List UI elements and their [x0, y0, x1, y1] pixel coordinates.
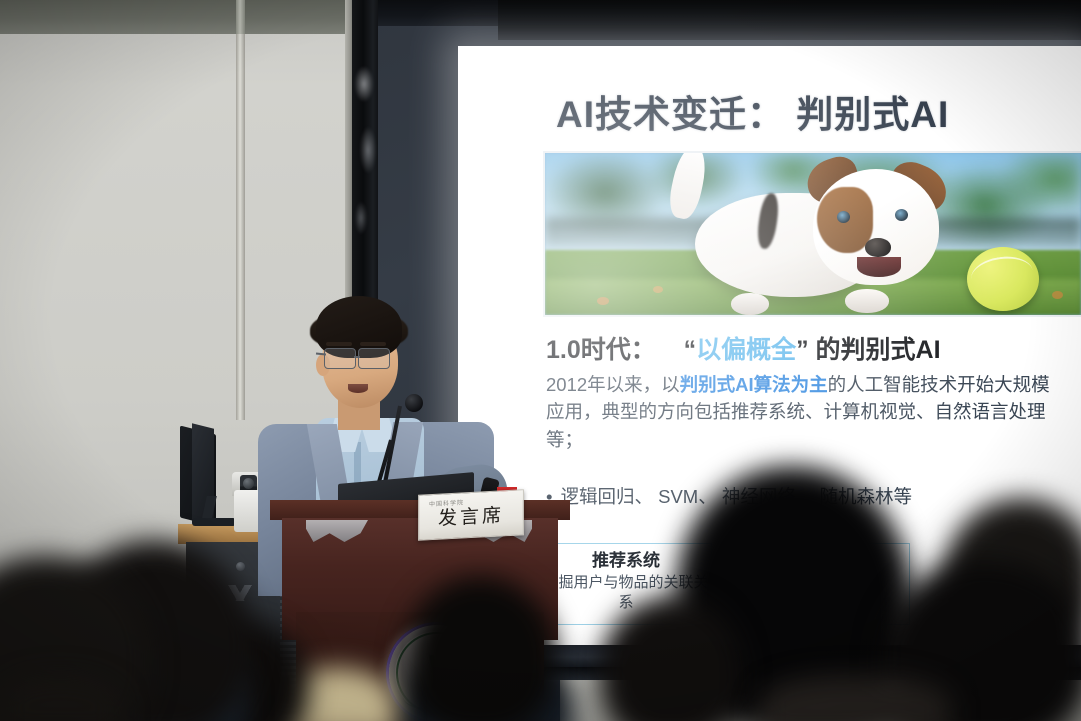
av-cabinet-knob[interactable]	[236, 562, 245, 571]
nameplate-subtext: 中国科学院	[429, 497, 464, 508]
microphone-head-icon	[243, 478, 254, 489]
microphone-capsule-icon	[405, 394, 423, 412]
pilaster-reflection	[354, 58, 376, 298]
speaker-mouth	[348, 384, 368, 393]
eyeglasses-temple	[316, 352, 326, 355]
eyeglasses-bridge	[354, 356, 360, 358]
photo-leaf	[597, 297, 609, 305]
audience-shoulders	[760, 676, 950, 721]
subtitle-quote-close: ”	[796, 336, 809, 364]
puppy-nose	[865, 238, 891, 257]
photo-leaf	[653, 286, 663, 293]
puppy-mouth	[857, 257, 901, 277]
slide-photo-puppy	[543, 151, 1081, 317]
puppy-paw-front	[845, 289, 889, 313]
eyeglasses-lens-right	[358, 348, 390, 369]
slide-body-text: 2012年以来，以判别式AI算法为主的人工智能技术开始大规模应用，典型的方向包括…	[546, 371, 1056, 453]
speaker-eyebrow-right	[360, 342, 386, 346]
body-part-1: 2012年以来，以	[546, 374, 680, 395]
left-wall-top-band	[0, 0, 352, 34]
puppy-eye-right	[895, 209, 908, 221]
slide-subtitle: 1.0时代： “以偏概全” 的判别式AI	[546, 330, 941, 366]
monitor-stand-base	[192, 518, 236, 526]
podium-nameplate: 中国科学院 发言席	[418, 489, 524, 541]
ceiling-shadow-band	[498, 0, 1081, 40]
photo-leaf	[1052, 291, 1063, 299]
subtitle-highlight: 以偏概全	[696, 336, 796, 364]
lecture-photo: AI技术变迁： 判别式AI 1.	[0, 0, 1081, 721]
puppy-paw-rear	[731, 293, 769, 315]
eyeglasses-lens-left	[324, 348, 356, 369]
subtitle-prefix: 1.0时代：	[546, 336, 656, 364]
body-highlight: 判别式AI算法为主	[680, 374, 828, 395]
puppy-eye-left	[837, 211, 850, 223]
wall-seam-top	[236, 0, 245, 34]
slide-title: AI技术变迁： 判别式AI	[556, 84, 949, 138]
audience-shoulders	[0, 676, 120, 721]
wall-seam	[236, 0, 245, 420]
subtitle-suffix: 的判别式AI	[816, 336, 941, 364]
subtitle-quote-open: “	[684, 336, 697, 364]
speaker-eyebrow-left	[326, 342, 352, 346]
